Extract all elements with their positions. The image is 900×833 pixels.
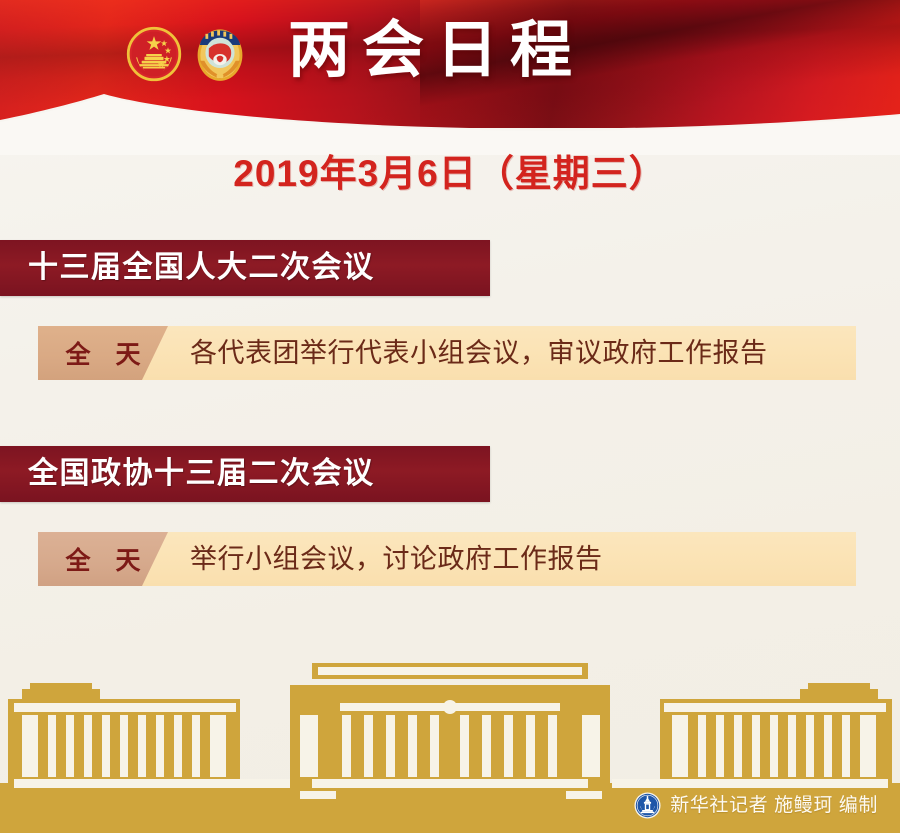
time-chip: 全 天 <box>38 326 168 380</box>
section-heading-bar: 十三届全国人大二次会议 <box>0 240 490 296</box>
credit-text: 新华社记者 施鳗珂 编制 <box>670 795 878 817</box>
schedule-row: 全 天 各代表团举行代表小组会议，审议政府工作报告 <box>38 326 856 380</box>
emblem-group <box>126 26 248 82</box>
section-heading-bar: 全国政协十三届二次会议 <box>0 446 490 502</box>
credit-block: 新华社记者 施鳗珂 编制 <box>634 792 878 819</box>
page-title: 两会日程 <box>288 14 584 88</box>
schedule-description: 各代表团举行代表小组会议，审议政府工作报告 <box>168 337 856 369</box>
schedule-description: 举行小组会议，讨论政府工作报告 <box>168 543 856 575</box>
xinhua-logo-icon <box>634 792 661 819</box>
national-emblem-icon <box>126 26 182 82</box>
section-npc: 十三届全国人大二次会议 全 天 各代表团举行代表小组会议，审议政府工作报告 <box>0 240 900 380</box>
cppcc-emblem-icon <box>192 26 248 82</box>
time-chip: 全 天 <box>38 532 168 586</box>
schedule-date: 2019年3月6日（星期三） <box>0 150 900 198</box>
section-heading-label: 十三届全国人大二次会议 <box>28 251 375 285</box>
schedule-row: 全 天 举行小组会议，讨论政府工作报告 <box>38 532 856 586</box>
section-cppcc: 全国政协十三届二次会议 全 天 举行小组会议，讨论政府工作报告 <box>0 446 900 586</box>
section-heading-label: 全国政协十三届二次会议 <box>28 457 375 491</box>
infographic-page: 两会日程 2019年3月6日（星期三） 十三届全国人大二次会议 全 天 各代表团… <box>0 0 900 833</box>
